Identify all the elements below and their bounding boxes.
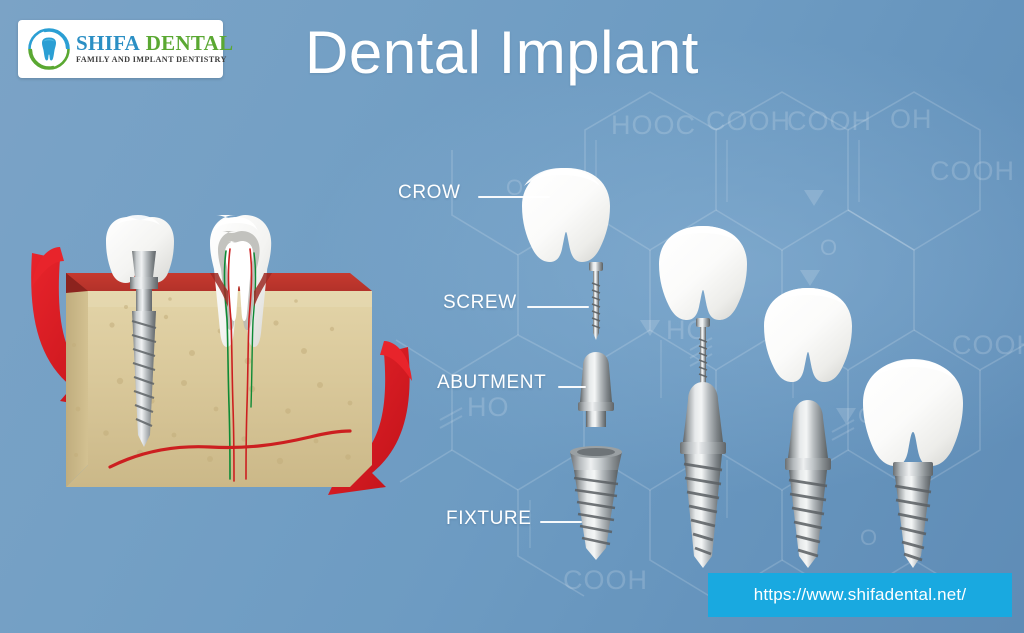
callout-label-crow: CROW [398,182,461,204]
watermark-text: O [858,403,876,429]
watermark-text: COOH [787,106,872,137]
callout-label-fixture: FIXTURE [446,508,531,530]
watermark-text: COOH [706,106,791,137]
screw-part-2 [696,318,710,392]
logo-title-dental: DENTAL [146,31,234,55]
callout-label-screw: SCREW [443,292,517,314]
watermark-text: HOOC [611,110,696,141]
infographic-canvas: HOOC COOH COOH OH COOH COOH HO HO O O O … [0,0,1024,633]
tooth-in-circle-icon [26,26,72,72]
watermark-text: HO [666,315,709,346]
watermark-text: COOH [952,330,1024,361]
crown-part-2 [659,226,747,320]
watermark-text: O [820,235,838,261]
watermark-text: COOH [563,565,648,596]
website-url-text: https://www.shifadental.net/ [754,585,967,605]
leader-line-fixture [540,521,582,523]
logo-wordmark: SHIFA DENTAL FAMILY AND IMPLANT DENTISTR… [76,33,233,64]
assembled-implant-4 [863,359,963,568]
leader-line-screw [527,306,589,308]
website-url-banner[interactable]: https://www.shifadental.net/ [708,573,1012,617]
abutment-part-1 [578,352,614,427]
page-title: Dental Implant [305,23,699,83]
callout-label-abutment: ABUTMENT [437,372,546,394]
watermark-text: OH [890,104,933,135]
logo-title-shifa: SHIFA [76,31,140,55]
logo-subtitle: FAMILY AND IMPLANT DENTISTRY [76,56,233,64]
watermark-text: COOH [930,156,1015,187]
crown-part-3 [764,288,852,382]
leader-line-crow [478,196,550,198]
leader-line-abutment [558,386,586,388]
watermark-text: HO [467,392,510,423]
assembled-fixture-2 [680,382,726,568]
assembled-fixture-3 [785,400,831,568]
watermark-text: O [860,525,878,551]
screw-part-1 [589,262,603,340]
fixture-part-1 [570,446,622,560]
crown-part-1 [522,168,610,262]
brand-logo[interactable]: SHIFA DENTAL FAMILY AND IMPLANT DENTISTR… [18,20,223,78]
bone-crosssection-illustration: Dental Implant Natural Tooth [20,195,420,535]
